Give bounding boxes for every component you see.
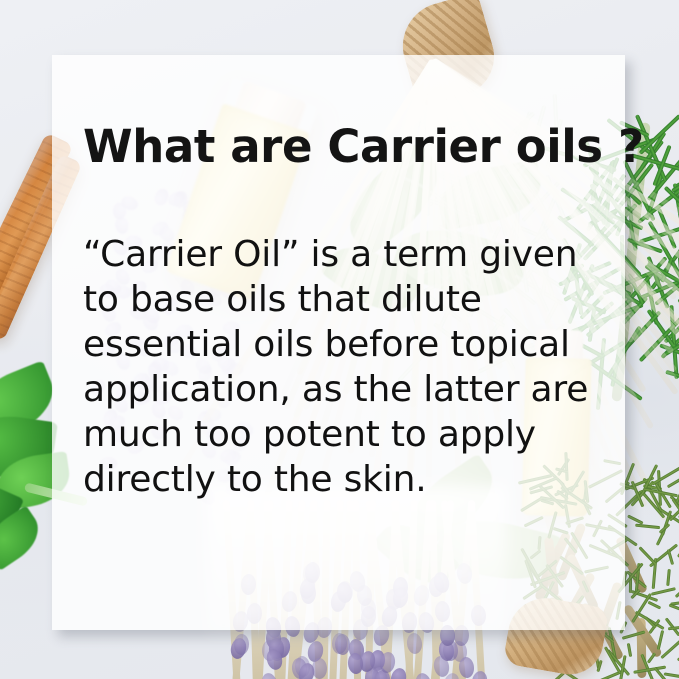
body-line: directly to the skin. — [83, 457, 591, 502]
body-line: application, as the latter are — [83, 367, 591, 412]
body-line: “Carrier Oil” is a term given — [83, 232, 591, 277]
content-card-inner: What are Carrier oils ? “Carrier Oil” is… — [52, 55, 625, 630]
content-card: What are Carrier oils ? “Carrier Oil” is… — [52, 55, 625, 630]
body-line: to base oils that dilute — [83, 277, 591, 322]
body-line: essential oils before topical — [83, 322, 591, 367]
body-paragraph: “Carrier Oil” is a term given to base oi… — [83, 232, 591, 502]
body-line: much too potent to apply — [83, 412, 591, 457]
infographic-image: What are Carrier oils ? “Carrier Oil” is… — [0, 0, 679, 679]
page-title: What are Carrier oils ? — [83, 123, 591, 170]
